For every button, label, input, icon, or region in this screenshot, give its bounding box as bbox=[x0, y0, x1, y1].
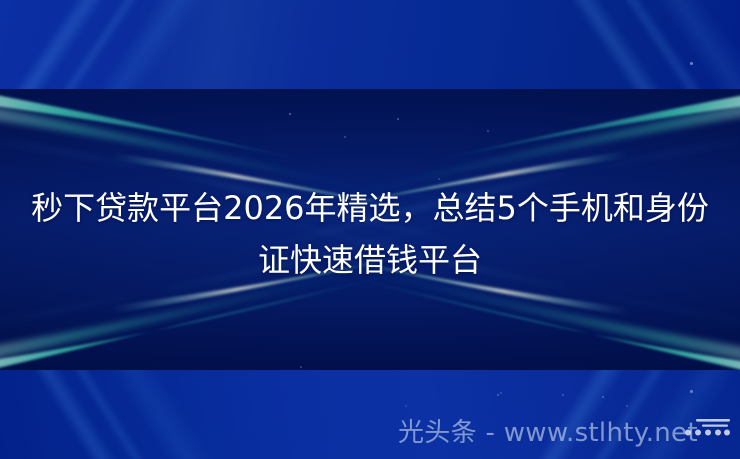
page-title: 秒下贷款平台2026年精选，总结5个手机和身份证快速借钱平台 bbox=[24, 182, 716, 286]
light-streaks-bottom bbox=[0, 370, 740, 459]
background-band-top bbox=[0, 0, 740, 89]
background-band-bottom bbox=[0, 370, 740, 459]
watermark-logo-icon bbox=[680, 415, 736, 445]
banner-image: 秒下贷款平台2026年精选，总结5个手机和身份证快速借钱平台 光头条 - www… bbox=[0, 0, 740, 459]
watermark-text: 光头条 - www.stlhty.net bbox=[398, 418, 698, 448]
light-streaks-top bbox=[0, 0, 740, 89]
